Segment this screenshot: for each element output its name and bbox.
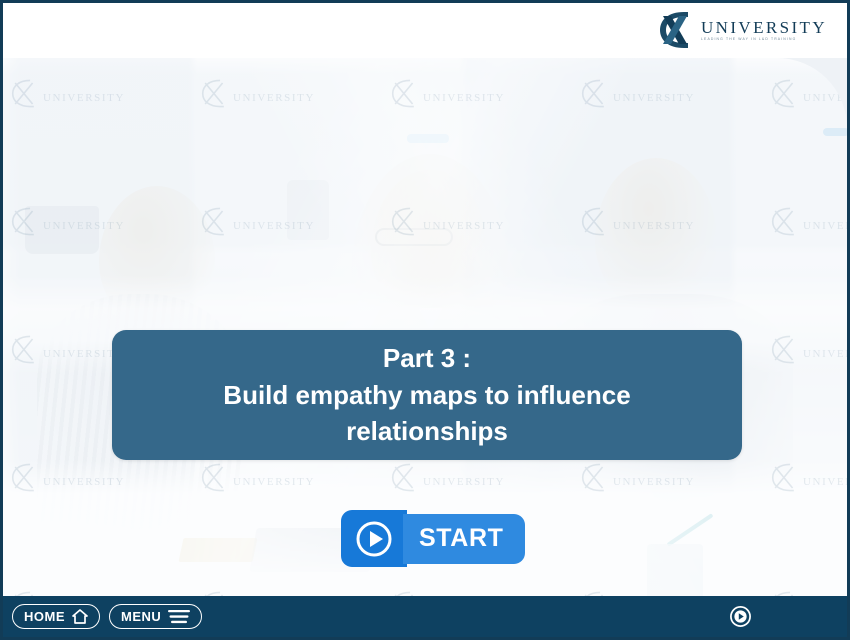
brand-word: UNIVERSITY <box>701 19 827 37</box>
home-icon <box>72 609 88 624</box>
menu-button-label: MENU <box>121 609 161 624</box>
menu-button[interactable]: MENU <box>109 604 202 629</box>
start-play-badge[interactable] <box>341 510 407 567</box>
home-button[interactable]: HOME <box>12 604 100 629</box>
x-university-monogram-icon <box>654 9 698 51</box>
slide-stage: UNIVERSITY Part 3 : Build empathy maps t… <box>3 58 847 602</box>
brand-tagline: LEADING THE WAY IN L&D TRAINING <box>701 37 827 41</box>
start-button-label[interactable]: START <box>403 514 525 564</box>
course-player: UNIVERSITY LEADING THE WAY IN L&D TRAINI… <box>0 0 850 640</box>
brand-logo: UNIVERSITY LEADING THE WAY IN L&D TRAINI… <box>654 9 827 51</box>
slide-canvas: UNIVERSITY Part 3 : Build empathy maps t… <box>3 58 847 602</box>
start-button[interactable]: START <box>341 510 525 567</box>
next-button[interactable] <box>729 605 752 628</box>
hamburger-icon <box>168 609 190 624</box>
slide-title-card: Part 3 : Build empathy maps to influence… <box>112 330 742 460</box>
brand-text: UNIVERSITY LEADING THE WAY IN L&D TRAINI… <box>701 19 827 42</box>
play-circle-icon <box>354 519 394 559</box>
home-button-label: HOME <box>24 609 65 624</box>
bottom-navigation-bar: HOME MENU <box>3 596 847 637</box>
header-bar: UNIVERSITY LEADING THE WAY IN L&D TRAINI… <box>3 3 847 58</box>
page-title: Part 3 : Build empathy maps to influence… <box>201 340 652 451</box>
